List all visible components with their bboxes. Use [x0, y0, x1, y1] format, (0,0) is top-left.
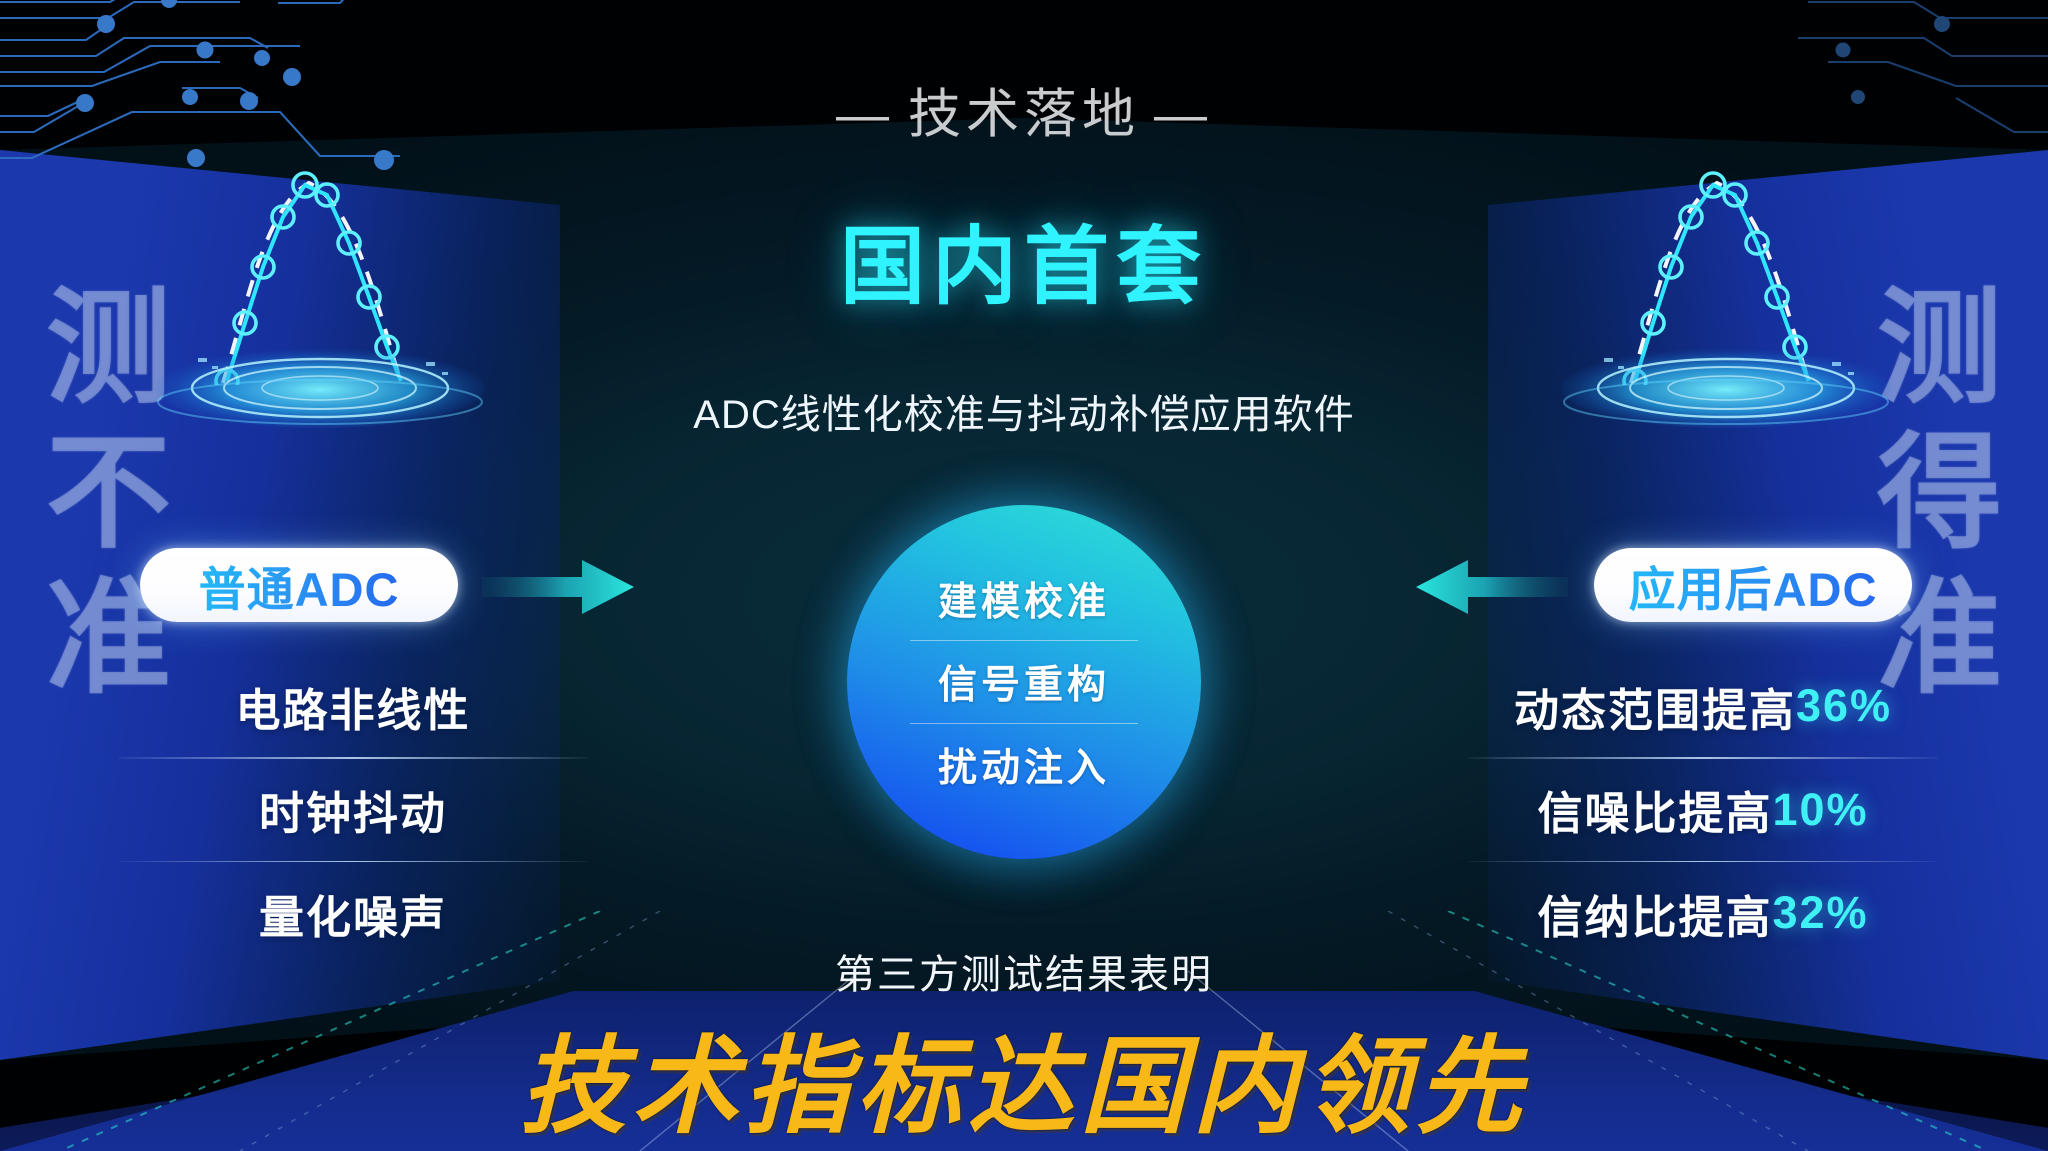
circle-item-0: 建模校准 — [910, 558, 1138, 640]
watermark-right-char-1: 得 — [1877, 421, 2002, 566]
process-circle: 建模校准 信号重构 扰动注入 — [847, 505, 1201, 859]
benefit-value: 36% — [1796, 680, 1892, 732]
list-item: 动态范围提高36% — [1468, 655, 1938, 757]
watermark-left-char-1: 不 — [46, 421, 171, 566]
pill-right-label: 应用后ADC — [1629, 551, 1878, 620]
list-item: 时钟抖动 — [118, 759, 588, 861]
benefit-value: 10% — [1772, 784, 1868, 836]
circle-item-2: 扰动注入 — [910, 723, 1138, 806]
infographic-canvas: 测 不 准 测 得 准 — [0, 0, 2048, 1151]
arrow-right-icon-right — [1416, 560, 1568, 614]
pill-ordinary-adc: 普通ADC — [140, 548, 458, 622]
list-item: 电路非线性 — [118, 655, 588, 757]
benefit-label: 动态范围提高 — [1514, 674, 1796, 739]
footer-slogan: 技术指标达国内领先 — [0, 1000, 2048, 1151]
benefit-list: 动态范围提高36% 信噪比提高10% 信纳比提高32% — [1468, 655, 1938, 964]
pill-left-label: 普通ADC — [199, 551, 400, 620]
third-party-note: 第三方测试结果表明 — [0, 942, 2048, 1000]
arrow-right-icon-left — [482, 560, 634, 614]
problem-list: 电路非线性 时钟抖动 量化噪声 — [118, 655, 588, 964]
list-item: 信噪比提高10% — [1468, 759, 1938, 861]
benefit-label: 信噪比提高 — [1537, 777, 1772, 842]
circle-body: 建模校准 信号重构 扰动注入 — [847, 505, 1201, 859]
circle-item-1: 信号重构 — [910, 640, 1138, 723]
pill-applied-adc: 应用后ADC — [1594, 548, 1912, 622]
benefit-label: 信纳比提高 — [1537, 881, 1772, 946]
title-text: 技术落地 — [908, 85, 1140, 144]
page-title: —技术落地— — [0, 72, 2048, 148]
title-dash-right: — — [1140, 84, 1226, 145]
headline-main: 国内首套 — [0, 198, 2048, 321]
benefit-value: 32% — [1772, 887, 1868, 939]
headline-subtitle: ADC线性化校准与抖动补偿应用软件 — [0, 382, 2048, 440]
title-dash-left: — — [822, 84, 908, 145]
